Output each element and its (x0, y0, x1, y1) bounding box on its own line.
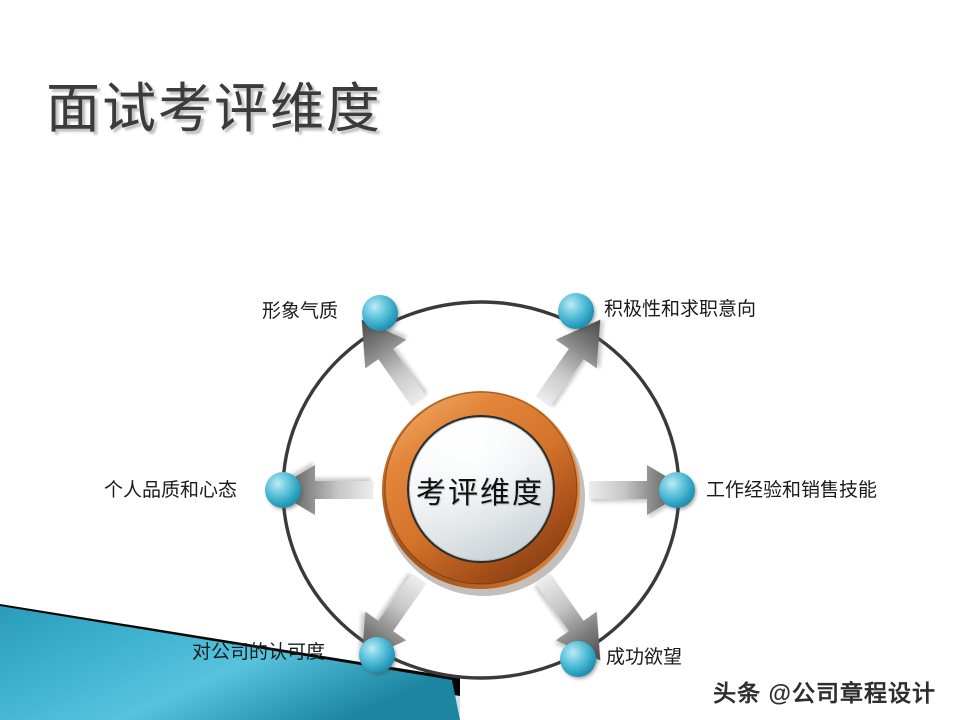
node-label-image-temperament: 形象气质 (262, 302, 338, 321)
node-company-approval[interactable] (359, 637, 395, 673)
node-experience-skills[interactable] (659, 472, 695, 508)
radial-diagram (0, 0, 960, 720)
hub-gloss (410, 418, 553, 561)
node-label-motivation-intent: 积极性和求职意向 (604, 300, 756, 319)
center-hub (382, 391, 585, 596)
node-label-personal-qualities: 个人品质和心态 (104, 481, 237, 500)
node-image-temperament[interactable] (362, 295, 398, 331)
node-success-desire[interactable] (560, 641, 596, 677)
node-label-company-approval: 对公司的认可度 (192, 643, 325, 662)
slide-canvas: 面试考评维度 (0, 0, 960, 720)
watermark-text: 头条 @公司章程设计 (713, 674, 936, 708)
node-motivation-intent[interactable] (558, 293, 594, 329)
node-label-success-desire: 成功欲望 (606, 648, 682, 667)
node-label-experience-skills: 工作经验和销售技能 (706, 481, 877, 500)
node-personal-qualities[interactable] (265, 472, 301, 508)
